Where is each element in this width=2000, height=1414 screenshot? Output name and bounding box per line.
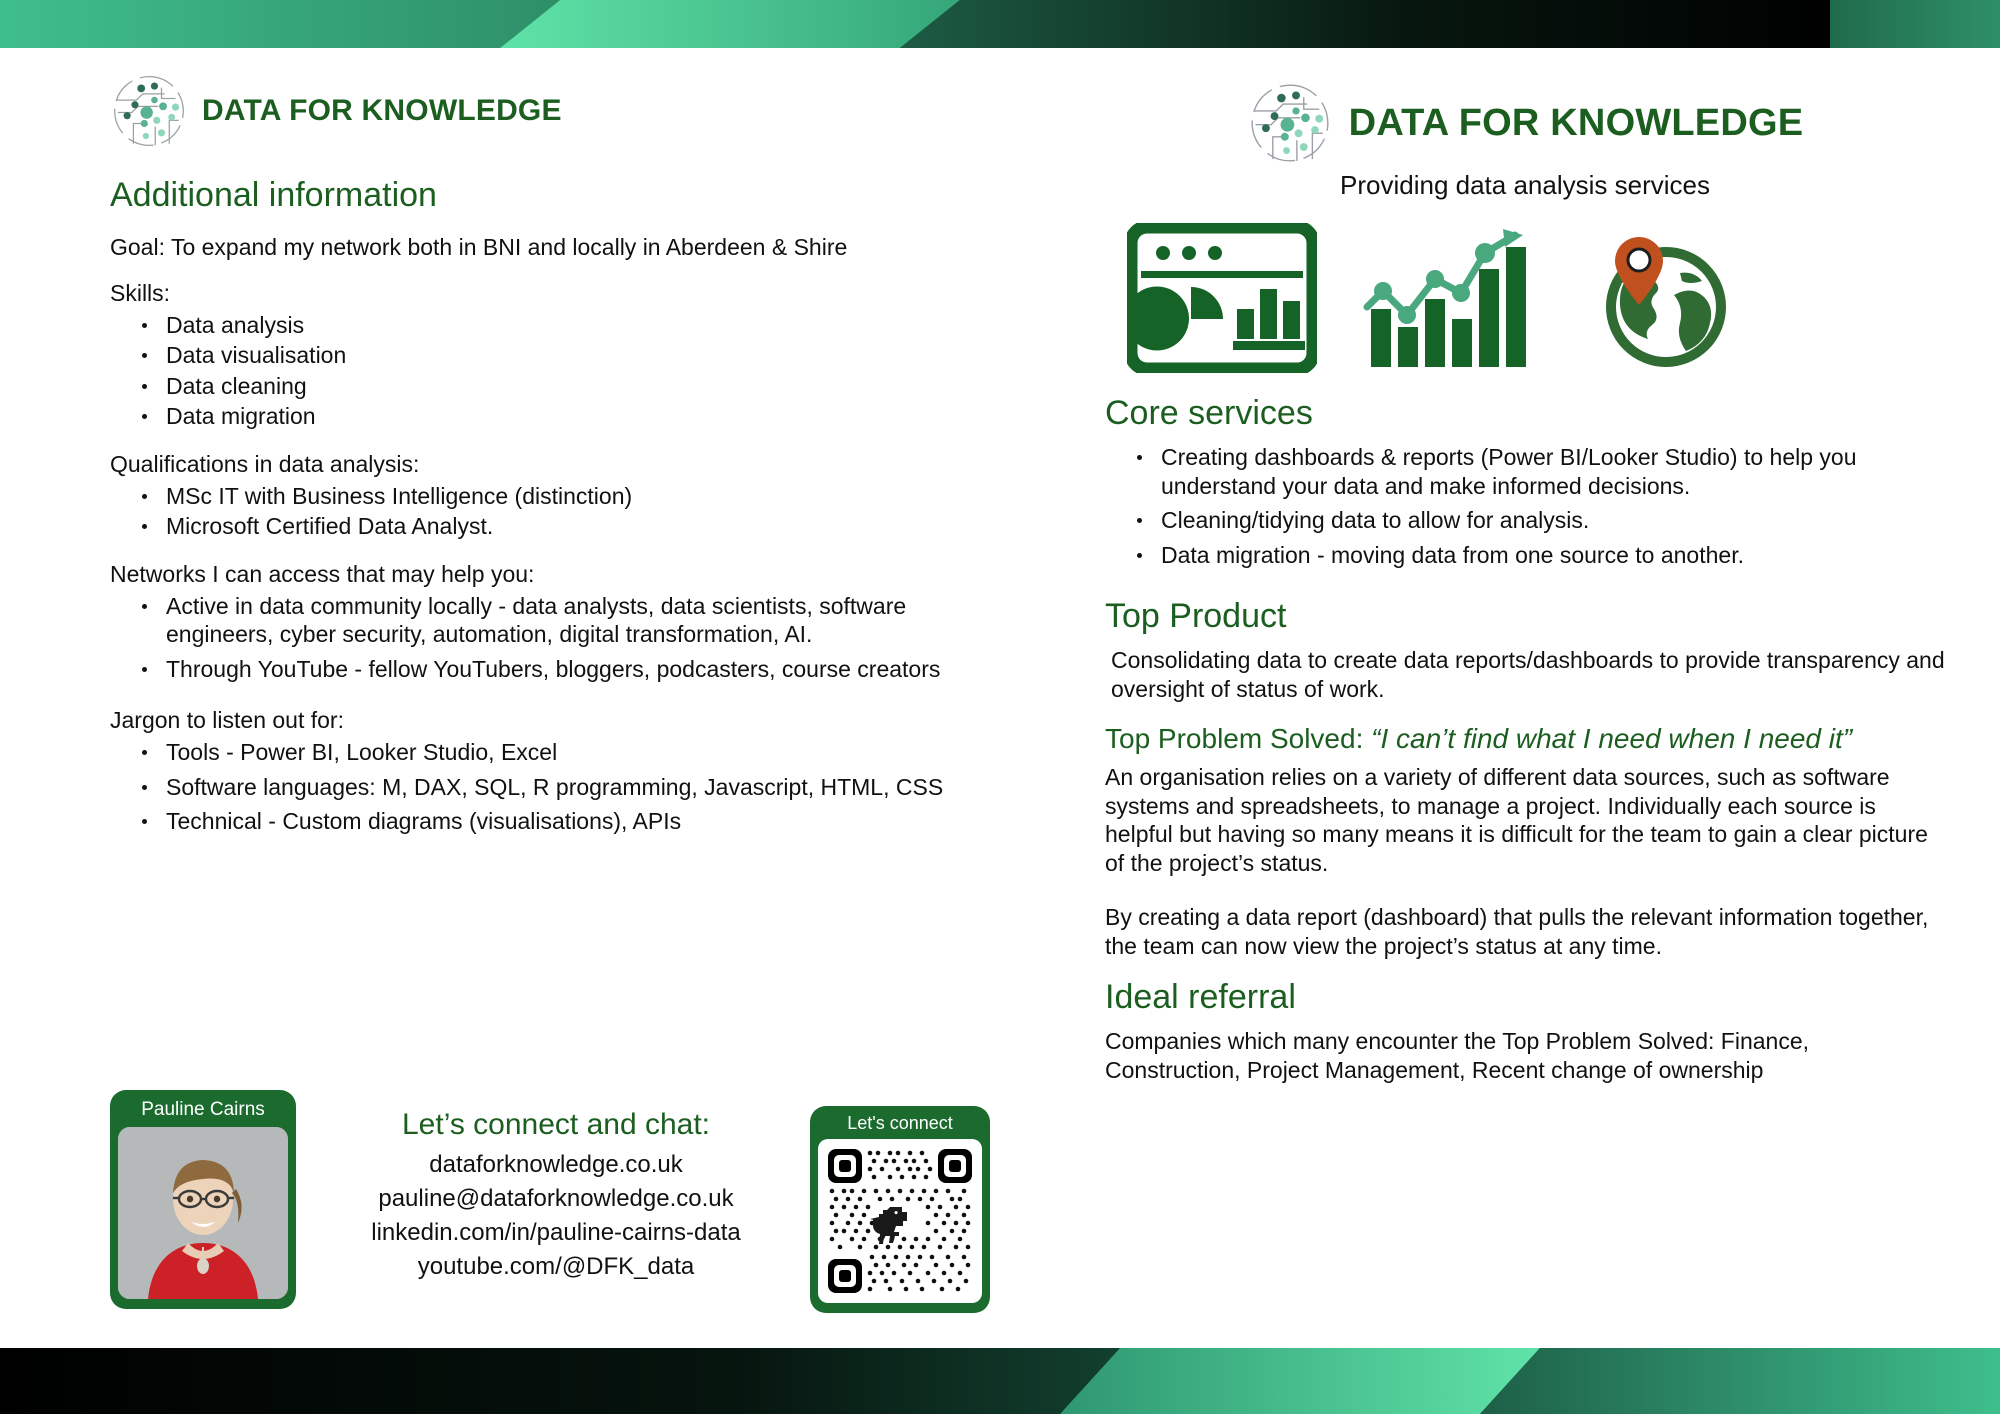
brand-header-left: DATA FOR KNOWLEDGE	[110, 72, 990, 150]
brand-tagline: Providing data analysis services	[1340, 170, 1710, 201]
list-item: Active in data community locally - data …	[142, 592, 990, 655]
list-item: Through YouTube - fellow YouTubers, blog…	[142, 655, 990, 690]
list-item: Data visualisation	[142, 341, 990, 372]
growth-chart-icon	[1363, 223, 1538, 378]
photo-card: Pauline Cairns	[110, 1090, 296, 1309]
brand-header-right: DATA FOR KNOWLEDGE Providing data analys…	[1105, 80, 1945, 201]
jargon-list: Tools - Power BI, Looker Studio, Excel S…	[110, 738, 990, 842]
problem-paragraph-2: By creating a data report (dashboard) th…	[1105, 903, 1945, 960]
ideal-referral-title: Ideal referral	[1105, 978, 1945, 1017]
list-item: Data analysis	[142, 311, 990, 342]
logo-svg	[1247, 80, 1333, 166]
networks-list: Active in data community locally - data …	[110, 592, 990, 690]
right-column: DATA FOR KNOWLEDGE Providing data analys…	[1105, 80, 1945, 1098]
problem-paragraph-1: An organisation relies on a variety of d…	[1105, 763, 1945, 877]
top-product-title: Top Product	[1105, 597, 1945, 636]
connect-heading: Let’s connect and chat:	[306, 1108, 806, 1142]
dashboard-svg	[1127, 223, 1317, 373]
list-item: Software languages: M, DAX, SQL, R progr…	[142, 773, 990, 808]
list-item: MSc IT with Business Intelligence (disti…	[142, 482, 990, 513]
qr-caption: Let's connect	[818, 1110, 982, 1139]
core-services-title: Core services	[1105, 394, 1945, 433]
growth-svg	[1363, 223, 1538, 373]
qualifications-list: MSc IT with Business Intelligence (disti…	[110, 482, 990, 543]
service-icons-row	[1127, 223, 1945, 378]
list-item: Tools - Power BI, Looker Studio, Excel	[142, 738, 990, 773]
top-product-body: Consolidating data to create data report…	[1105, 646, 1945, 703]
list-item: Cleaning/tidying data to allow for analy…	[1137, 506, 1945, 541]
bottom-decorative-banner	[0, 1348, 2000, 1414]
link-email[interactable]: pauline@dataforknowledge.co.uk	[306, 1182, 806, 1216]
ideal-referral-body: Companies which many encounter the Top P…	[1105, 1027, 1945, 1084]
brand-name-right: DATA FOR KNOWLEDGE	[1349, 102, 1804, 145]
core-services-list: Creating dashboards & reports (Power BI/…	[1105, 443, 1945, 575]
link-youtube[interactable]: youtube.com/@DFK_data	[306, 1250, 806, 1284]
networks-label: Networks I can access that may help you:	[110, 561, 990, 588]
connect-links: Let’s connect and chat: dataforknowledge…	[296, 1090, 810, 1284]
top-banner-shapes	[0, 0, 2000, 48]
list-item: Technical - Custom diagrams (visualisati…	[142, 807, 990, 842]
goal-text: Goal: To expand my network both in BNI a…	[110, 233, 990, 262]
qualifications-label: Qualifications in data analysis:	[110, 451, 990, 478]
list-item: Data migration	[142, 402, 990, 433]
globe-location-pin-icon	[1584, 223, 1744, 378]
qr-svg	[824, 1145, 976, 1297]
skills-label: Skills:	[110, 280, 990, 307]
network-circuit-globe-icon	[1247, 80, 1333, 166]
page-title: Additional information	[110, 176, 990, 215]
avatar	[118, 1127, 288, 1299]
top-problem-quote: “I can’t find what I need when I need it…	[1371, 723, 1852, 754]
list-item: Creating dashboards & reports (Power BI/…	[1137, 443, 1945, 506]
list-item: Data cleaning	[142, 372, 990, 403]
skills-list: Data analysis Data visualisation Data cl…	[110, 311, 990, 433]
link-website[interactable]: dataforknowledge.co.uk	[306, 1148, 806, 1182]
top-problem-heading: Top Problem Solved: “I can’t find what I…	[1105, 723, 1945, 755]
list-item: Microsoft Certified Data Analyst.	[142, 512, 990, 543]
left-column: DATA FOR KNOWLEDGE Additional informatio…	[110, 72, 990, 848]
dashboard-report-icon	[1127, 223, 1317, 378]
qr-code-dinosaur-icon[interactable]	[818, 1139, 982, 1303]
qr-card[interactable]: Let's connect	[810, 1106, 990, 1313]
bottom-banner-shapes	[0, 1348, 2000, 1414]
flyer-page: DATA FOR KNOWLEDGE Additional informatio…	[0, 0, 2000, 1414]
brand-name-left: DATA FOR KNOWLEDGE	[202, 94, 562, 128]
top-problem-label: Top Problem Solved:	[1105, 723, 1363, 754]
globe-svg	[1584, 223, 1744, 373]
link-linkedin[interactable]: linkedin.com/in/pauline-cairns-data	[306, 1216, 806, 1250]
list-item: Data migration - moving data from one so…	[1137, 541, 1945, 576]
network-circuit-globe-icon	[110, 72, 188, 150]
logo-svg	[110, 72, 188, 150]
brand-row: DATA FOR KNOWLEDGE	[1247, 80, 1804, 166]
photo-caption: Pauline Cairns	[118, 1096, 288, 1127]
jargon-label: Jargon to listen out for:	[110, 707, 990, 734]
contact-block: Pauline Cairns	[110, 1090, 990, 1313]
top-decorative-banner	[0, 0, 2000, 48]
